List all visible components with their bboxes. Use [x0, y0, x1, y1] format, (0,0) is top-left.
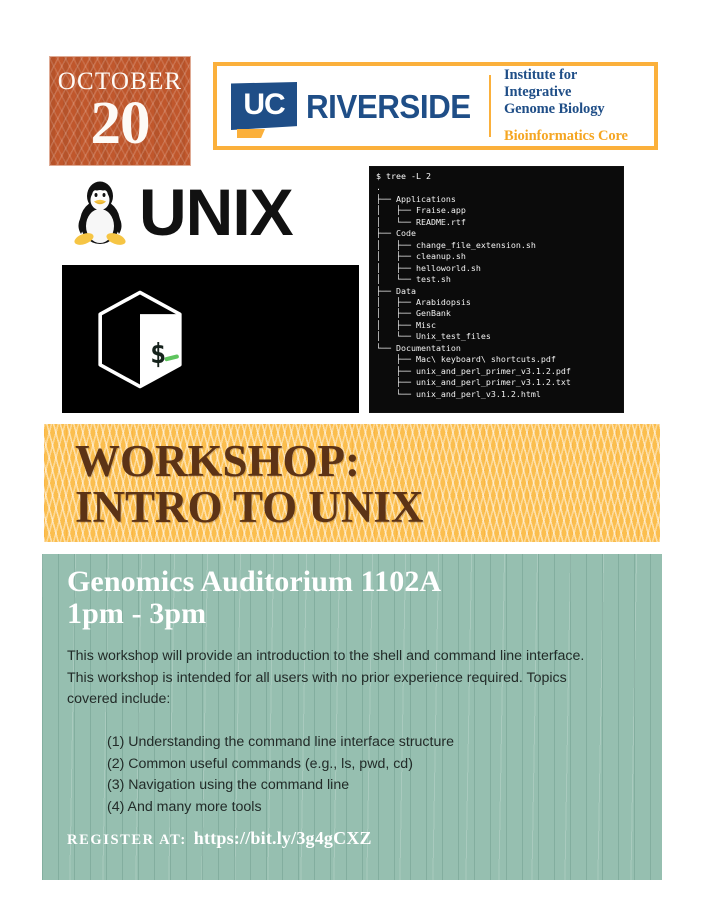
- bioinformatics-core-label: Bioinformatics Core: [504, 128, 646, 145]
- unix-wordmark-row: UNIX: [70, 178, 293, 246]
- details-panel: Genomics Auditorium 1102A 1pm - 3pm This…: [42, 554, 662, 880]
- poster-title-line-1: WORKSHOP:: [75, 438, 423, 484]
- campus-name: RIVERSIDE: [306, 90, 471, 123]
- uc-gold-tail-shape: [237, 129, 265, 138]
- poster-title: WORKSHOP: INTRO TO UNIX: [75, 438, 423, 530]
- uc-monogram-label: UC: [231, 81, 297, 129]
- tux-penguin-icon: [70, 178, 130, 246]
- list-item: (2) Common useful commands (e.g., ls, pw…: [107, 754, 454, 776]
- terminal-output: $ tree -L 2 . ├── Applications │ ├── Fra…: [370, 167, 623, 400]
- institute-line-1: Institute for Integrative: [504, 67, 646, 101]
- institute-line-2: Genome Biology: [504, 101, 646, 118]
- ucr-logo-right: Institute for Integrative Genome Biology…: [491, 66, 654, 146]
- list-item: (4) And many more tools: [107, 797, 454, 819]
- terminal-command: $ tree -L 2: [376, 171, 431, 181]
- venue-location: Genomics Auditorium 1102A: [67, 566, 441, 598]
- terminal-tree: . ├── Applications │ ├── Fraise.app │ └─…: [376, 182, 571, 398]
- register-label: REGISTER AT:: [67, 832, 187, 849]
- venue-time: 1pm - 3pm: [67, 598, 441, 630]
- ucr-logo: UC RIVERSIDE Institute for Integrative G…: [213, 62, 658, 150]
- title-banner: WORKSHOP: INTRO TO UNIX: [44, 424, 660, 542]
- ucr-logo-left: UC RIVERSIDE: [217, 66, 489, 146]
- bash-shell-icon: $: [90, 287, 190, 392]
- register-line: REGISTER AT: https://bit.ly/3g4gCXZ: [67, 828, 372, 849]
- list-item: (1) Understanding the command line inter…: [107, 732, 454, 754]
- date-day: 20: [91, 95, 150, 152]
- uc-monogram-icon: UC: [231, 82, 297, 130]
- register-url[interactable]: https://bit.ly/3g4gCXZ: [194, 828, 372, 849]
- bash-logo-panel: $: [62, 265, 359, 413]
- unix-wordmark: UNIX: [139, 179, 293, 245]
- venue-heading: Genomics Auditorium 1102A 1pm - 3pm: [67, 566, 441, 630]
- list-item: (3) Navigation using the command line: [107, 775, 454, 797]
- terminal-window: $ tree -L 2 . ├── Applications │ ├── Fra…: [370, 167, 623, 412]
- poster-title-line-2: INTRO TO UNIX: [75, 484, 423, 530]
- date-block: OCTOBER 20: [50, 57, 190, 165]
- description-text: This workshop will provide an introducti…: [67, 646, 612, 711]
- poster-canvas: OCTOBER 20 UC RIVERSIDE Institute for In…: [0, 0, 702, 909]
- topics-list: (1) Understanding the command line inter…: [107, 732, 454, 818]
- svg-text:$: $: [150, 339, 166, 370]
